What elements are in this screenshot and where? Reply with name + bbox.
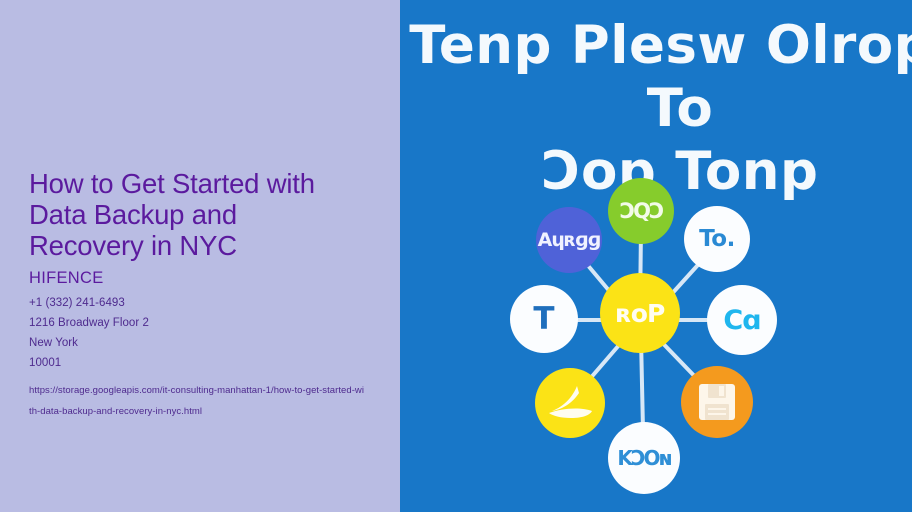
contact-zip: 10001 <box>29 353 389 373</box>
contact-phone: +1 (332) 241-6493 <box>29 293 389 313</box>
diagram-node-upper-right[interactable]: To. <box>684 206 750 272</box>
diagram-node-right[interactable]: Cɑ <box>707 285 777 355</box>
diagram-node-right-label: Cɑ <box>723 307 760 334</box>
diagram-node-bottom[interactable]: KƆOɴ <box>608 422 680 494</box>
hub-and-spoke-diagram: ƆQƆ Aɥʀɡɡ To. T Cɑ <box>500 168 800 498</box>
diagram-hub-label: ʀoP <box>616 301 665 326</box>
diagram-node-left[interactable]: T <box>510 285 578 353</box>
contact-street: 1216 Broadway Floor 2 <box>29 313 389 333</box>
left-panel-content: How to Get Started with Data Backup and … <box>29 168 389 422</box>
brand-name: HIFENCE <box>29 268 389 288</box>
diagram-hub-node[interactable]: ʀoP <box>600 273 680 353</box>
left-info-panel: How to Get Started with Data Backup and … <box>0 0 400 512</box>
diagram-node-upper-left-label: Aɥʀɡɡ <box>538 231 601 250</box>
promo-card: How to Get Started with Data Backup and … <box>0 0 912 512</box>
diagram-node-upper-left[interactable]: Aɥʀɡɡ <box>536 207 602 273</box>
diagram-node-top[interactable]: ƆQƆ <box>608 178 674 244</box>
contact-city: New York <box>29 333 389 353</box>
diagram-node-upper-right-label: To. <box>699 228 735 251</box>
floppy-disk-icon <box>696 381 738 423</box>
diagram-node-lower-left[interactable] <box>535 368 605 438</box>
diagram-node-bottom-label: KƆOɴ <box>617 448 670 468</box>
diagram-node-lower-right[interactable] <box>681 366 753 438</box>
page-title: How to Get Started with Data Backup and … <box>29 168 389 261</box>
swoosh-icon <box>543 380 597 426</box>
diagram-node-top-label: ƆQƆ <box>620 201 663 222</box>
diagram-node-left-label: T <box>533 304 554 335</box>
source-url[interactable]: https://storage.googleapis.com/it-consul… <box>29 380 364 422</box>
right-hero-panel: Tenp Plesw Olropl To Ɔop Tonp ƆQƆ <box>400 0 912 512</box>
